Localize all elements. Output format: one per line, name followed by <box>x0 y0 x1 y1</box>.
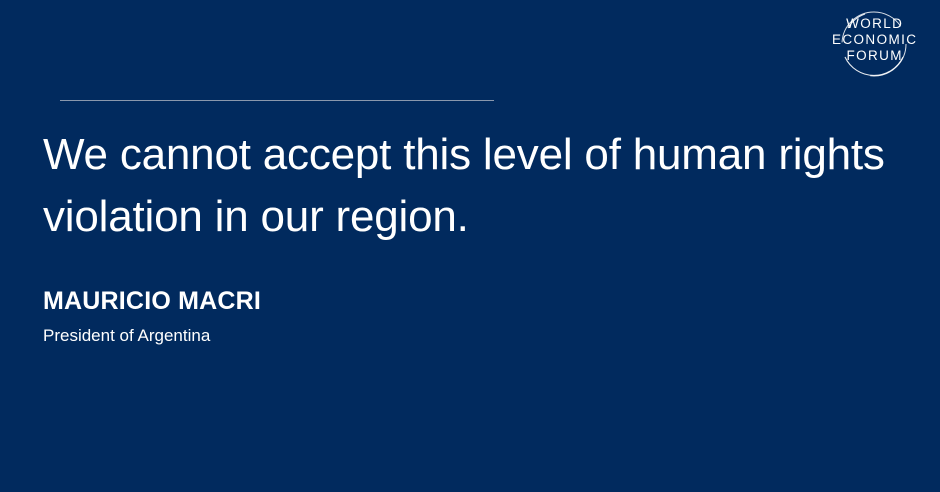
quote-text: We cannot accept this level of human rig… <box>43 124 923 248</box>
logo-line-world: WORLD <box>846 16 903 32</box>
logo-line-economic: ECONOMIC <box>832 32 917 48</box>
quote-card: WORLD ECONOMIC FORUM We cannot accept th… <box>0 0 940 492</box>
world-economic-forum-logo: WORLD ECONOMIC FORUM <box>818 8 930 80</box>
quote-divider-rule <box>60 100 494 101</box>
speaker-name: MAURICIO MACRI <box>43 286 643 316</box>
logo-line-forum: FORUM <box>846 48 903 64</box>
quote-attribution: MAURICIO MACRI President of Argentina <box>43 286 643 348</box>
speaker-role: President of Argentina <box>43 324 643 348</box>
logo-wordmark: WORLD ECONOMIC FORUM <box>818 8 930 80</box>
